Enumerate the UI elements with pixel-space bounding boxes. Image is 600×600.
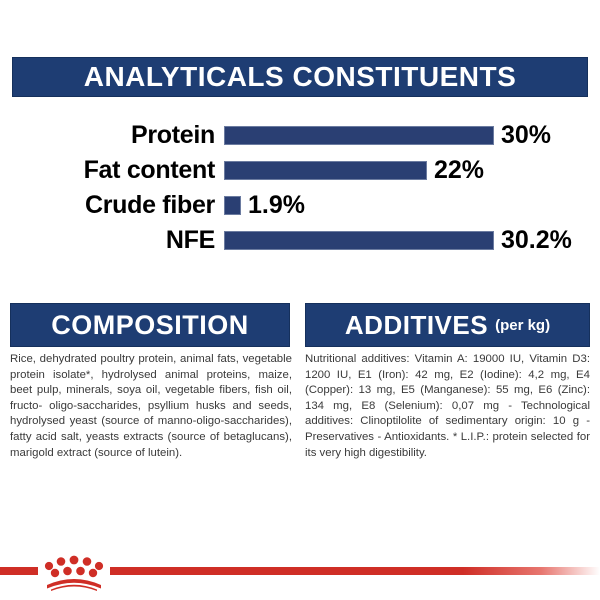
analyticals-title: ANALYTICALS CONSTITUENTS [84,61,517,93]
constituent-bar [224,161,427,180]
constituent-label: NFE [0,226,215,255]
constituent-label: Protein [0,121,215,150]
constituent-bar-wrap: 22% [224,156,600,185]
constituent-bar-wrap: 30% [224,121,600,150]
royal-canin-crown-icon [41,555,107,591]
constituent-value: 30.2% [501,226,572,255]
constituent-bar-wrap: 30.2% [224,226,600,255]
nutrition-panel: ANALYTICALS CONSTITUENTS Protein 30% Fat… [0,0,600,600]
constituent-label: Crude fiber [0,191,215,220]
constituent-value: 30% [501,121,551,150]
constituent-value: 22% [434,156,484,185]
constituent-bar [224,196,241,215]
additives-body-text: Nutritional additives: Vitamin A: 19000 … [305,352,590,461]
constituent-bar [224,126,494,145]
constituents-bar-chart: Protein 30% Fat content 22% Crude fiber … [0,118,600,258]
additives-subtitle: (per kg) [495,317,550,334]
footer-rule-left [0,567,38,575]
constituent-row-nfe: NFE 30.2% [0,223,600,258]
constituent-bar [224,231,494,250]
constituent-value: 1.9% [248,191,305,220]
footer-rule-right [110,567,600,575]
constituent-row-protein: Protein 30% [0,118,600,153]
composition-title: COMPOSITION [51,310,249,341]
composition-banner: COMPOSITION [10,303,290,347]
additives-banner: ADDITIVES (per kg) [305,303,590,347]
constituent-row-crude-fiber: Crude fiber 1.9% [0,188,600,223]
constituent-row-fat-content: Fat content 22% [0,153,600,188]
constituent-bar-wrap: 1.9% [224,191,600,220]
constituent-label: Fat content [0,156,215,185]
additives-title: ADDITIVES [345,310,488,341]
analyticals-constituents-banner: ANALYTICALS CONSTITUENTS [12,57,588,97]
footer [0,555,600,600]
composition-body-text: Rice, dehydrated poultry protein, animal… [10,352,292,461]
